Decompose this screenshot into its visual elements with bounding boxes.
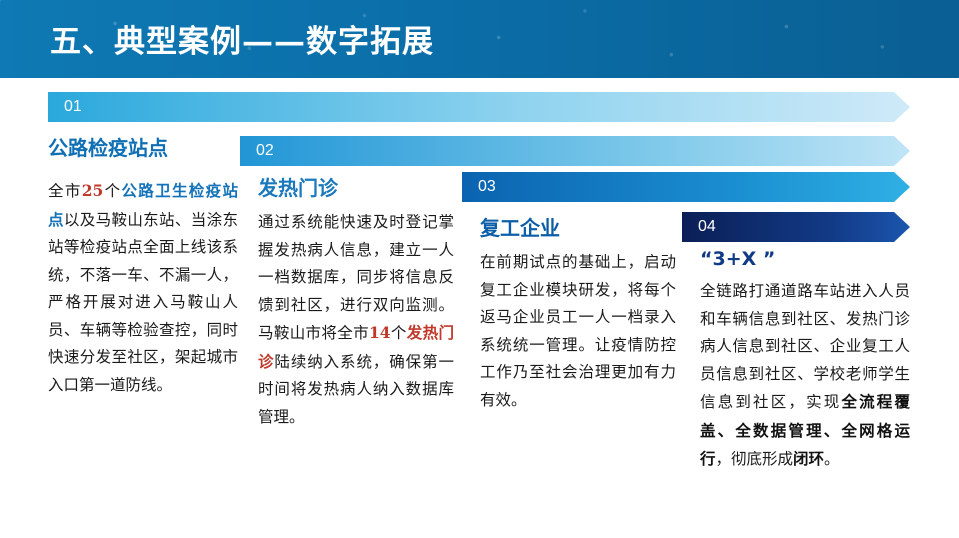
- column-title-4: “3+X ”: [700, 248, 910, 270]
- text-run: 以及马鞍山东站、当涂东站等检疫站点全面上线该系统，不落一车、不漏一人，严格开展对…: [48, 211, 238, 394]
- text-run: 陆续纳入系统，确保第一时间将发热病人纳入数据库管理。: [258, 353, 454, 426]
- column-highway-checkpoints: 公路检疫站点 全市25个公路卫生检疫站点以及马鞍山东站、当涂东站等检疫站点全面上…: [48, 132, 238, 400]
- column-title-3: 复工企业: [480, 212, 676, 241]
- text-run: 。: [824, 450, 840, 468]
- text-run: 全市: [48, 182, 82, 200]
- column-three-plus-x: “3+X ” 全链路打通道路车站进入人员和车辆信息到社区、发热门诊病人信息到社区…: [700, 248, 910, 474]
- step-number-02: 02: [256, 142, 274, 160]
- text-run: ，彻底形成: [716, 450, 794, 468]
- text-run: 14: [369, 323, 391, 342]
- column-body-3: 在前期试点的基础上，启动复工企业模块研发，将每个返马企业员工一人一档录入系统统一…: [480, 249, 676, 414]
- column-body-1: 全市25个公路卫生检疫站点以及马鞍山东站、当涂东站等检疫站点全面上线该系统，不落…: [48, 177, 238, 400]
- text-run: 闭环: [793, 449, 824, 468]
- step-banner-02: 02: [240, 136, 910, 166]
- step-number-04: 04: [698, 218, 716, 236]
- text-run: 在前期试点的基础上，启动复工企业模块研发，将每个返马企业员工一人一档录入系统统一…: [480, 253, 676, 409]
- step-number-01: 01: [64, 98, 82, 116]
- column-body-2: 通过系统能快速及时登记掌握发热病人信息，建立一人一档数据库，同步将信息反馈到社区…: [258, 209, 454, 432]
- step-number-03: 03: [478, 178, 496, 196]
- page-title: 五、典型案例——数字拓展: [50, 16, 434, 61]
- column-title-2: 发热门诊: [258, 172, 454, 201]
- step-banner-04: 04: [682, 212, 910, 242]
- slide-header: 五、典型案例——数字拓展: [0, 0, 959, 78]
- column-resumed-enterprises: 复工企业 在前期试点的基础上，启动复工企业模块研发，将每个返马企业员工一人一档录…: [480, 212, 676, 414]
- text-run: 个: [103, 182, 121, 200]
- column-title-1: 公路检疫站点: [48, 132, 238, 161]
- column-fever-clinic: 发热门诊 通过系统能快速及时登记掌握发热病人信息，建立一人一档数据库，同步将信息…: [258, 172, 454, 432]
- text-run: 25: [82, 181, 104, 200]
- text-run: 个: [391, 324, 407, 342]
- step-banner-01: 01: [48, 92, 910, 122]
- column-body-4: 全链路打通道路车站进入人员和车辆信息到社区、发热门诊病人信息到社区、企业复工人员…: [700, 278, 910, 474]
- step-banner-03: 03: [462, 172, 910, 202]
